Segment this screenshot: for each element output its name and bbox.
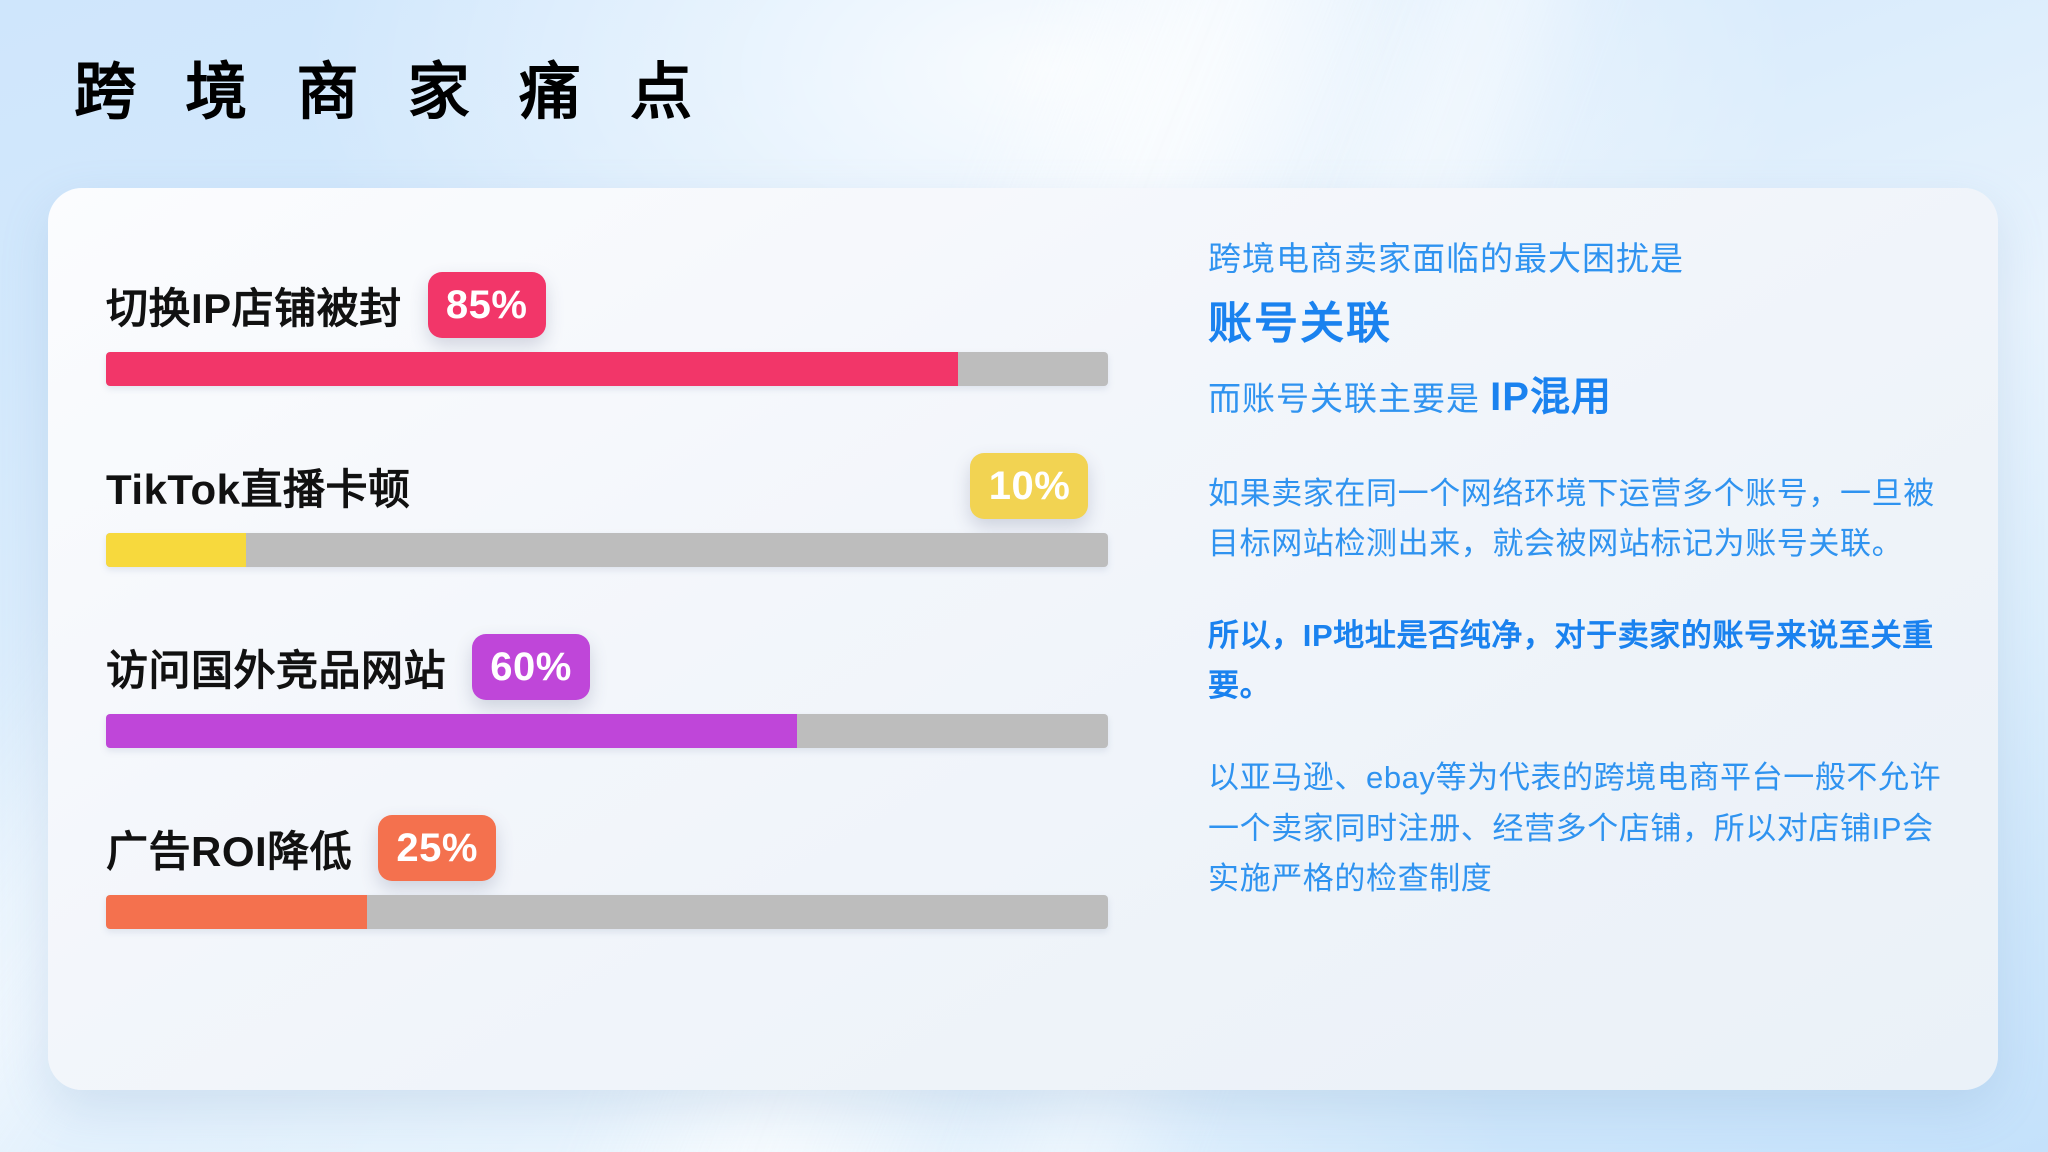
bar-label: TikTok直播卡顿 xyxy=(106,456,410,517)
bar-label: 广告ROI降低 xyxy=(106,818,352,879)
bar-row: 切换IP店铺被封 85% xyxy=(106,268,1166,386)
bar-header: 广告ROI降低 25% xyxy=(106,811,1166,885)
bar-header: 切换IP店铺被封 85% xyxy=(106,268,1166,342)
content-card: 切换IP店铺被封 85% TikTok直播卡顿 10% 访问国外竞品网站 xyxy=(48,188,1998,1090)
page-title: 跨 境 商 家 痛 点 xyxy=(74,62,708,124)
pain-point-bar-chart: 切换IP店铺被封 85% TikTok直播卡顿 10% 访问国外竞品网站 xyxy=(106,268,1166,929)
paragraph-3: 以亚马逊、ebay等为代表的跨境电商平台一般不允许一个卖家同时注册、经营多个店铺… xyxy=(1208,753,1948,904)
slide-canvas: 跨 境 商 家 痛 点 切换IP店铺被封 85% TikTok直播卡顿 10% xyxy=(0,0,2048,1152)
paragraph-1: 如果卖家在同一个网络环境下运营多个账号，一旦被目标网站检测出来，就会被网站标记为… xyxy=(1208,469,1948,569)
bar-header: 访问国外竞品网站 60% xyxy=(106,630,1166,704)
bar-row: 广告ROI降低 25% xyxy=(106,811,1166,929)
bar-track xyxy=(106,533,1108,567)
bar-fill xyxy=(106,352,958,386)
bar-label: 切换IP店铺被封 xyxy=(106,275,402,336)
lead-text: 跨境电商卖家面临的最大困扰是 xyxy=(1208,234,1948,284)
sub-text: 而账号关联主要是 IP混用 xyxy=(1208,367,1948,427)
bar-fill xyxy=(106,533,246,567)
bar-value-badge: 85% xyxy=(428,272,546,338)
explanation-panel: 跨境电商卖家面临的最大困扰是 账号关联 而账号关联主要是 IP混用 如果卖家在同… xyxy=(1208,234,1948,904)
bar-value-badge: 10% xyxy=(970,453,1088,519)
hero-text: 账号关联 xyxy=(1208,296,1948,351)
bar-row: TikTok直播卡顿 10% xyxy=(106,449,1166,567)
bar-value-badge: 25% xyxy=(378,815,496,881)
sub-text-prefix: 而账号关联主要是 xyxy=(1208,380,1480,417)
bar-fill xyxy=(106,714,797,748)
bar-track xyxy=(106,895,1108,929)
bar-label: 访问国外竞品网站 xyxy=(106,637,446,698)
bar-header: TikTok直播卡顿 10% xyxy=(106,449,1166,523)
paragraph-2: 所以，IP地址是否纯净，对于卖家的账号来说至关重要。 xyxy=(1208,611,1948,711)
bar-track xyxy=(106,352,1108,386)
bar-fill xyxy=(106,895,367,929)
bar-value-badge: 60% xyxy=(472,634,590,700)
bar-row: 访问国外竞品网站 60% xyxy=(106,630,1166,748)
sub-text-emphasis: IP混用 xyxy=(1490,375,1612,419)
bar-track xyxy=(106,714,1108,748)
